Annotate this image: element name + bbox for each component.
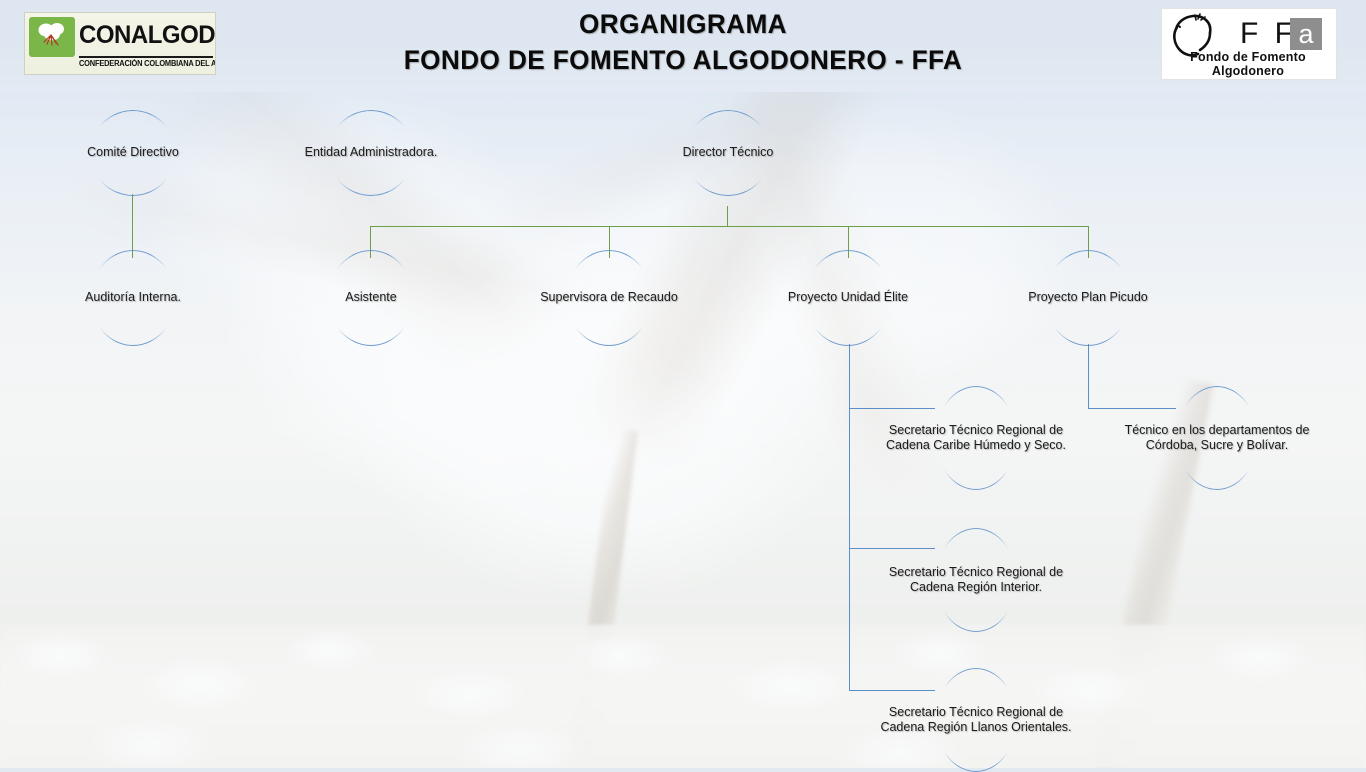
node-label: Asistente [291, 250, 451, 346]
node-auditoria-interna[interactable]: Auditoría Interna. [90, 250, 176, 346]
edge-picudo-drop [1088, 344, 1089, 409]
node-label: Proyecto Unidad Élite [738, 250, 958, 346]
node-label: Secretario Técnico Regional de Cadena Re… [876, 668, 1076, 772]
node-label: Auditoría Interna. [43, 250, 223, 346]
page-title: ORGANIGRAMA FONDO DE FOMENTO ALGODONERO … [0, 6, 1366, 78]
node-comite-directivo[interactable]: Comité Directivo [90, 110, 176, 196]
edge-green-bus [370, 226, 1089, 227]
node-label: Secretario Técnico Regional de Cadena Re… [871, 528, 1081, 632]
title-line-1: ORGANIGRAMA [20, 6, 1345, 42]
node-label: Secretario Técnico Regional de Cadena Ca… [871, 386, 1081, 490]
edge-comite-to-auditoria [132, 194, 133, 258]
node-director-tecnico[interactable]: Director Técnico [685, 110, 771, 196]
node-secretario-caribe[interactable]: Secretario Técnico Regional de Cadena Ca… [935, 386, 1017, 490]
node-proyecto-plan-picudo[interactable]: Proyecto Plan Picudo [1045, 250, 1131, 346]
node-label: Entidad Administradora. [271, 110, 471, 196]
edge-director-drop [727, 206, 728, 227]
node-tecnico-departamentos[interactable]: Técnico en los departamentos de Córdoba,… [1176, 386, 1258, 490]
node-entidad-administradora[interactable]: Entidad Administradora. [328, 110, 414, 196]
node-proyecto-unidad-elite[interactable]: Proyecto Unidad Élite [805, 250, 891, 346]
node-label: Supervisora de Recaudo [499, 250, 719, 346]
node-supervisora-recaudo[interactable]: Supervisora de Recaudo [566, 250, 652, 346]
title-line-2: FONDO DE FOMENTO ALGODONERO - FFA [20, 42, 1345, 78]
node-secretario-llanos[interactable]: Secretario Técnico Regional de Cadena Re… [935, 668, 1017, 772]
node-label: Proyecto Plan Picudo [978, 250, 1198, 346]
node-label: Director Técnico [643, 110, 813, 196]
node-label: Técnico en los departamentos de Córdoba,… [1102, 386, 1332, 490]
edge-elite-spine [849, 344, 850, 691]
node-asistente[interactable]: Asistente [328, 250, 414, 346]
node-secretario-interior[interactable]: Secretario Técnico Regional de Cadena Re… [935, 528, 1017, 632]
node-label: Comité Directivo [48, 110, 218, 196]
